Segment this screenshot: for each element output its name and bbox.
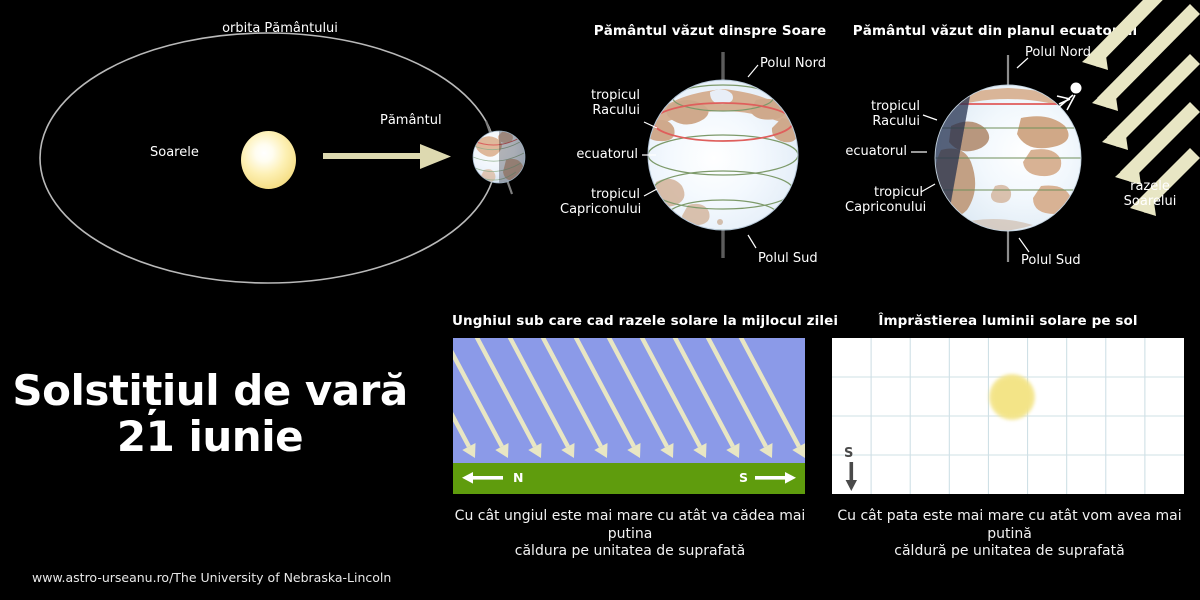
tropic-of-capricorn-label-line2: Capriconului xyxy=(560,203,640,218)
tropic-of-cancer-label-line1: tropicul xyxy=(845,100,920,115)
rays-panel-caption: Cu cât ungiul este mai mare cu atât va c… xyxy=(440,508,820,561)
sun-label: Soarele xyxy=(150,146,199,161)
tropic-of-capricorn-label-line1: tropicul xyxy=(845,186,923,201)
sun-rays-label-line2: Soarelui xyxy=(1100,195,1200,210)
tropic-of-cancer-label: tropicul Racului xyxy=(845,100,920,130)
hero-title-line1: Solstițiul de vară xyxy=(0,368,420,413)
footer-credit: www.astro-urseanu.ro/The University of N… xyxy=(32,570,391,585)
tropic-of-cancer-label-line2: Racului xyxy=(560,104,640,119)
tropic-of-cancer-label-line1: tropicul xyxy=(560,89,640,104)
equator-label: ecuatorul xyxy=(560,148,638,163)
grid-caption-line2: căldură pe unitatea de suprafată xyxy=(822,543,1197,561)
earth-label: Pământul xyxy=(380,114,442,129)
tropic-of-cancer-label-line2: Racului xyxy=(845,115,920,130)
rays-panel-title: Unghiul sub care cad razele solare la mi… xyxy=(452,313,804,329)
compass-north-label: N xyxy=(513,470,523,485)
orbit-title-label: orbita Pământului xyxy=(130,22,430,37)
rays-caption-line2: căldura pe unitatea de suprafată xyxy=(440,543,820,561)
compass-south-arrow xyxy=(842,462,862,492)
compass-south-label: S xyxy=(844,446,853,461)
globe-sun-view-panel: Pământul văzut dinspre Soare xyxy=(560,0,860,300)
tropic-of-cancer-label: tropicul Racului xyxy=(560,89,640,119)
grid-panel-title: Împrăstierea luminii solare pe sol xyxy=(832,313,1184,329)
rays-caption-line1: Cu cât ungiul este mai mare cu atât va c… xyxy=(440,508,820,543)
south-pole-label: Polul Sud xyxy=(1021,254,1081,269)
sunlight-spot xyxy=(989,374,1035,420)
south-pole-label: Polul Sud xyxy=(758,252,818,267)
equator-label: ecuatorul xyxy=(845,145,907,160)
globe-equatorial-view-panel: Pământul văzut din planul ecuatorial xyxy=(845,0,1200,300)
grid-panel-figure: S xyxy=(832,338,1184,494)
orbit-panel: orbita Pământului Soarele Pământul xyxy=(0,0,560,300)
grid-panel-caption: Cu cât pata este mai mare cu atât vom av… xyxy=(822,508,1197,561)
tropic-of-capricorn-label: tropicul Capriconului xyxy=(845,186,923,216)
sun-rays-label: razele Soarelui xyxy=(1100,180,1200,210)
ground-area xyxy=(453,463,805,494)
orbit-direction-arrow xyxy=(323,144,451,169)
sun-disc xyxy=(241,131,296,189)
tropic-of-capricorn-label: tropicul Capriconului xyxy=(560,188,640,218)
observer-stick-figure xyxy=(1057,83,1082,111)
rays-svg xyxy=(453,338,805,494)
grid-caption-line1: Cu cât pata este mai mare cu atât vom av… xyxy=(822,508,1197,543)
orbit-earth-globe xyxy=(462,112,536,200)
compass-south-label: S xyxy=(739,470,748,485)
north-pole-label: Polul Nord xyxy=(1025,46,1091,61)
sun-rays-label-line1: razele xyxy=(1100,180,1200,195)
hero-title-line2: 21 iunie xyxy=(0,413,420,460)
hero-title: Solstițiul de vară 21 iunie xyxy=(0,368,420,460)
infographic-root: orbita Pământului Soarele Pământul Pămân… xyxy=(0,0,1200,600)
north-pole-label: Polul Nord xyxy=(760,57,826,72)
tropic-of-capricorn-label-line2: Capriconului xyxy=(845,201,923,216)
tropic-of-capricorn-label-line1: tropicul xyxy=(560,188,640,203)
rays-panel-figure: N S xyxy=(453,338,805,494)
